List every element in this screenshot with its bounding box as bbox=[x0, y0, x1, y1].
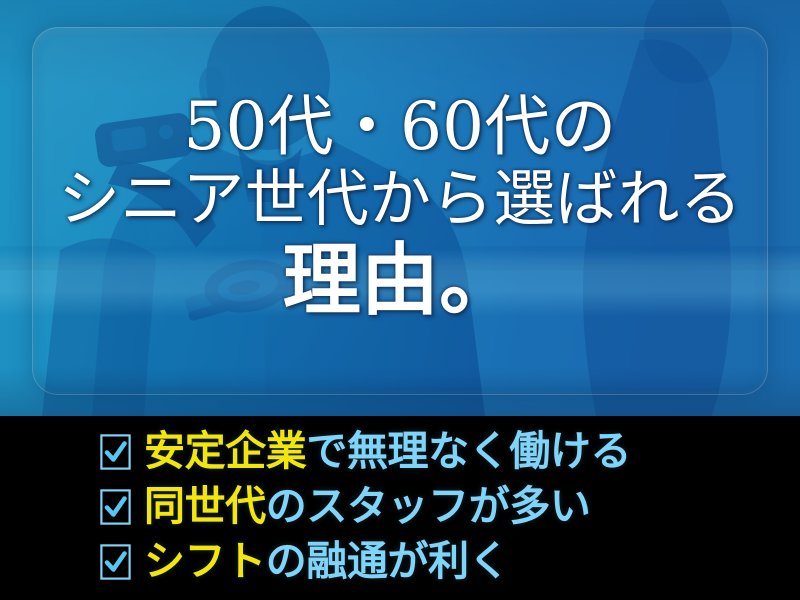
list-item-text: シフトの融通が利く bbox=[144, 541, 509, 582]
list-item-accent: 同世代 bbox=[144, 482, 266, 530]
checkbox-checked-icon bbox=[100, 544, 131, 580]
list-item: 同世代のスタッフが多い bbox=[0, 479, 800, 534]
headline-line-1: 50代・60代の bbox=[183, 94, 616, 160]
headline-line-3: 理由。 bbox=[283, 240, 517, 322]
list-item: 安定企業で無理なく働ける bbox=[0, 424, 800, 479]
checkbox-checked-icon bbox=[100, 434, 131, 470]
list-item: シフトの融通が利く bbox=[0, 534, 800, 589]
list-item-accent: シフト bbox=[144, 537, 266, 585]
headline-group: 50代・60代の シニア世代から選ばれる 理由。 bbox=[0, 0, 800, 416]
hero-section: 50代・60代の シニア世代から選ばれる 理由。 bbox=[0, 0, 800, 416]
recruitment-banner: 50代・60代の シニア世代から選ばれる 理由。 安定企業で無理なく働ける bbox=[0, 0, 800, 600]
list-item-rest: の融通が利く bbox=[266, 537, 510, 585]
list-item-text: 同世代のスタッフが多い bbox=[144, 486, 591, 527]
headline-line-2: シニア世代から選ばれる bbox=[58, 168, 742, 230]
list-item-accent: 安定企業 bbox=[144, 427, 306, 475]
checkbox-checked-icon bbox=[100, 489, 131, 525]
list-item-rest: で無理なく働ける bbox=[306, 427, 631, 475]
list-item-rest: のスタッフが多い bbox=[266, 482, 591, 530]
list-item-text: 安定企業で無理なく働ける bbox=[144, 431, 631, 472]
benefits-list: 安定企業で無理なく働ける 同世代のスタッフが多い シフトの融通が利く bbox=[0, 416, 800, 600]
